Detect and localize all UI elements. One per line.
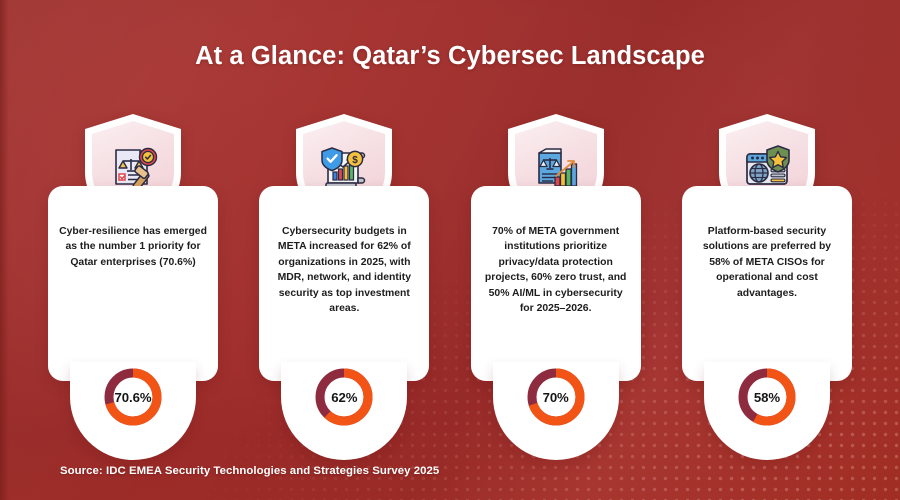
stat-card-text: Platform-based security solutions are pr… (682, 186, 852, 301)
stat-card-body: Cyber-resilience has emerged as the numb… (48, 186, 218, 381)
donut-gauge: 62% (311, 364, 377, 430)
donut-gauge-label: 70.6% (100, 364, 166, 430)
stat-card[interactable]: Platform-based security solutions are pr… (682, 112, 852, 417)
donut-gauge-label: 70% (523, 364, 589, 430)
donut-gauge: 70.6% (100, 364, 166, 430)
donut-gauge: 58% (734, 364, 800, 430)
stat-card[interactable]: 70% of META government institutions prio… (471, 112, 641, 417)
source-caption: Source: IDC EMEA Security Technologies a… (60, 465, 439, 477)
donut-gauge-label: 58% (734, 364, 800, 430)
stat-card[interactable]: $ Cybersecurity budgets in META increase… (259, 112, 429, 417)
page-title: At a Glance: Qatar’s Cybersec Landscape (0, 42, 900, 71)
stat-card-list: Cyber-resilience has emerged as the numb… (48, 112, 852, 417)
stat-card-text: 70% of META government institutions prio… (471, 186, 641, 316)
stat-card[interactable]: Cyber-resilience has emerged as the numb… (48, 112, 218, 417)
stat-card-body: Platform-based security solutions are pr… (682, 186, 852, 381)
stat-card-text: Cyber-resilience has emerged as the numb… (48, 186, 218, 270)
donut-gauge: 70% (523, 364, 589, 430)
stat-card-body: 70% of META government institutions prio… (471, 186, 641, 381)
svg-text:$: $ (353, 155, 359, 166)
stat-card-text: Cybersecurity budgets in META increased … (259, 186, 429, 316)
stat-card-body: Cybersecurity budgets in META increased … (259, 186, 429, 381)
background-left-edge (0, 0, 9, 500)
donut-gauge-label: 62% (311, 364, 377, 430)
